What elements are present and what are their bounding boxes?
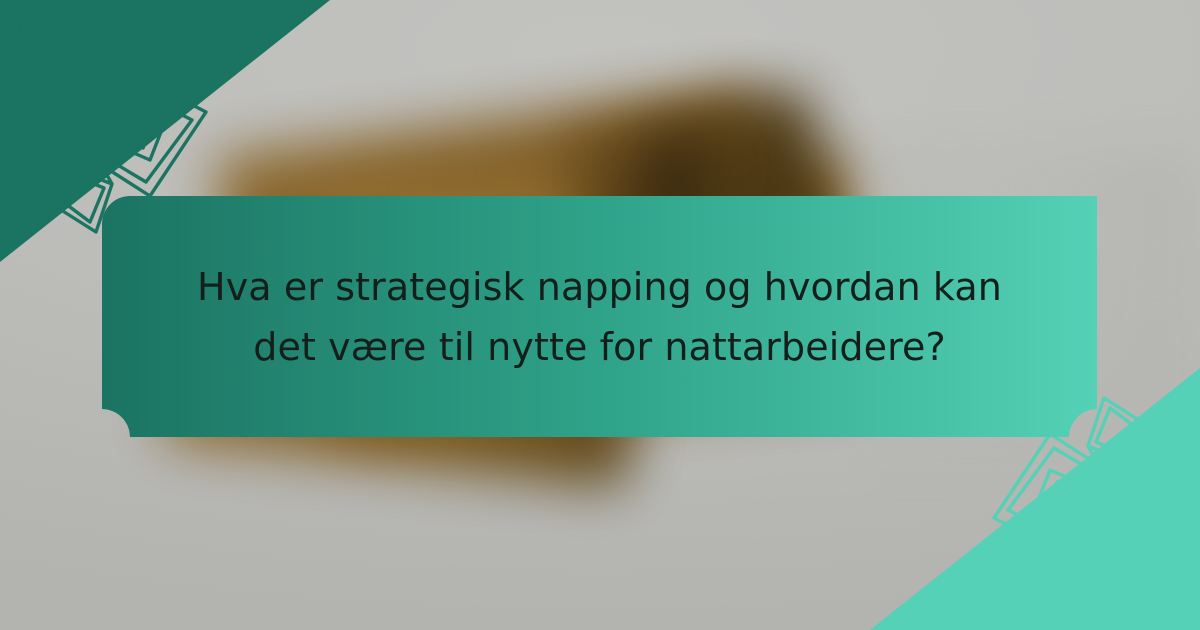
quote-line-2: det være til nytte for nattarbeidere?: [253, 319, 945, 375]
quote-card: Hva er strategisk napping og hvordan kan…: [0, 0, 1200, 630]
quote-line-1: Hva er strategisk napping og hvordan kan: [197, 259, 1002, 315]
quote-text: Hva er strategisk napping og hvordan kan…: [102, 196, 1097, 437]
quote-banner: Hva er strategisk napping og hvordan kan…: [102, 196, 1097, 437]
